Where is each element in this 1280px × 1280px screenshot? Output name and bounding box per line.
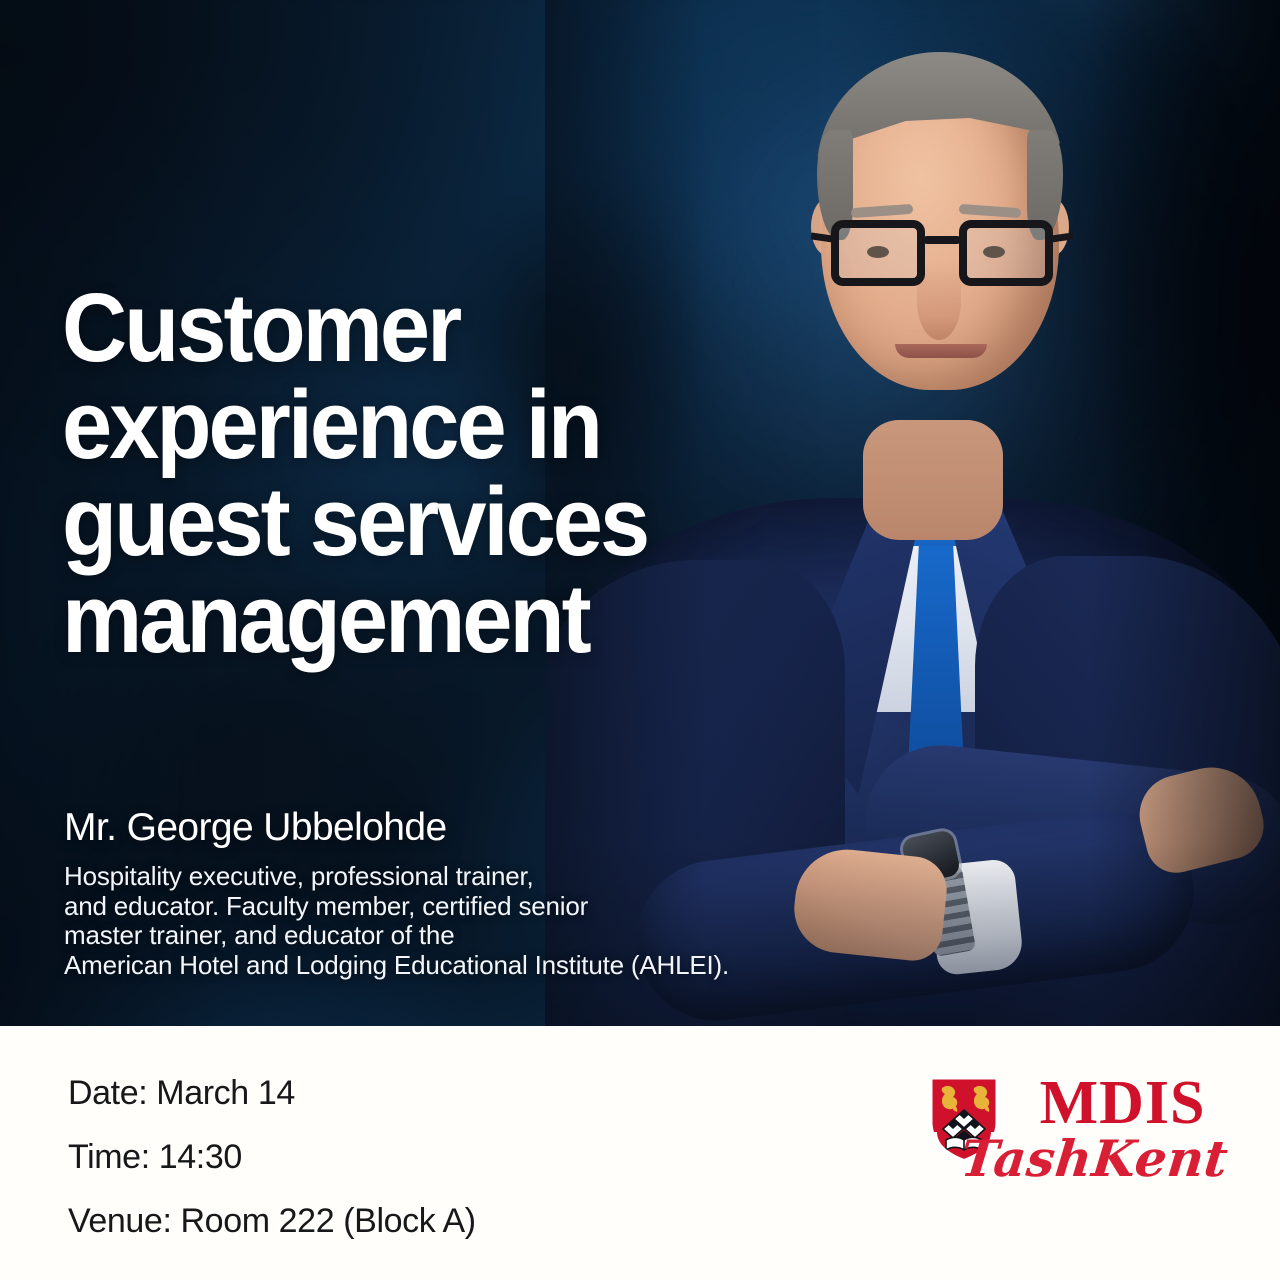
speaker-bio: Hospitality executive, professional trai… xyxy=(64,862,764,980)
logo-wordmark: MDIS TashKent xyxy=(1017,1074,1228,1184)
event-details: Date: March 14 Time: 14:30 Venue: Room 2… xyxy=(68,1074,476,1240)
mouth xyxy=(895,344,987,358)
hand-left xyxy=(790,844,950,963)
glasses-lens-left xyxy=(831,220,925,286)
detail-time: Time: 14:30 xyxy=(68,1138,476,1176)
detail-venue: Venue: Room 222 (Block A) xyxy=(68,1202,476,1240)
detail-date: Date: March 14 xyxy=(68,1074,476,1112)
page-title: Customer experience in guest services ma… xyxy=(62,279,750,667)
eyeglasses-icon xyxy=(831,220,1053,296)
logo-mdis-text: MDIS xyxy=(1040,1074,1206,1132)
glasses-lens-right xyxy=(959,220,1053,286)
neck xyxy=(863,420,1003,540)
footer-bar: Date: March 14 Time: 14:30 Venue: Room 2… xyxy=(0,1026,1280,1280)
logo-campus-text: TashKent xyxy=(958,1134,1230,1184)
speaker-name: Mr. George Ubbelohde xyxy=(64,806,447,850)
event-poster: Customer experience in guest services ma… xyxy=(0,0,1280,1280)
mdis-tashkent-logo: MDIS TashKent xyxy=(925,1074,1228,1184)
glasses-bridge xyxy=(923,236,961,244)
